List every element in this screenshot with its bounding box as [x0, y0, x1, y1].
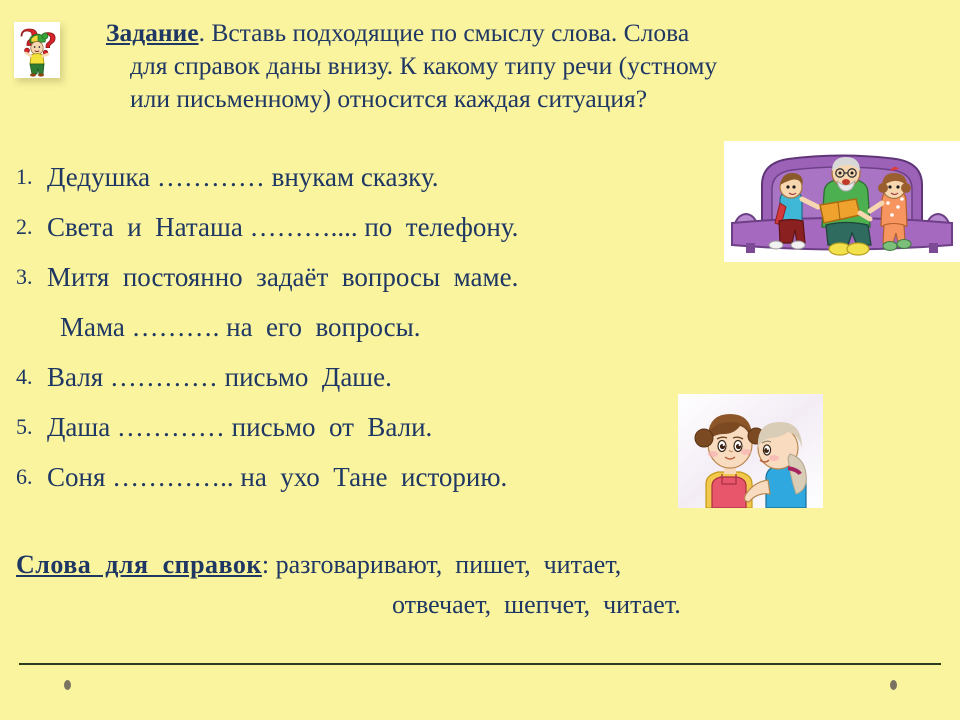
list-item-continuation: Мама ………. на его вопросы.	[0, 306, 960, 356]
footer-dot-left-icon	[64, 680, 71, 690]
list-item: 3. Митя постоянно задаёт вопросы маме.	[0, 256, 960, 306]
list-item-text: Валя ………… письмо Даше.	[47, 356, 392, 398]
list-item-text: Дедушка ………… внукам сказку.	[47, 156, 438, 198]
reference-words-label: Слова для справок	[16, 550, 262, 579]
task-line-3: или письменному) относится каждая ситуац…	[106, 82, 946, 115]
list-item-text: Соня ………….. на ухо Тане историю.	[47, 456, 507, 498]
list-item-text: Мама ………. на его вопросы.	[60, 306, 421, 348]
task-line-1: Вставь подходящие по смыслу слова. Слова	[205, 18, 689, 47]
grandfather-reading-to-grandchildren-image	[724, 141, 960, 262]
footer-dot-right-icon	[890, 680, 897, 690]
list-item-text: Даша ………… письмо от Вали.	[47, 406, 432, 448]
list-item-number: 5.	[16, 412, 33, 442]
slide-canvas: Задание. Вставь подходящие по смыслу сло…	[0, 0, 960, 720]
jester-boy-with-question-marks-icon	[14, 22, 60, 78]
list-item-number: 6.	[16, 462, 33, 492]
list-item-number: 2.	[16, 212, 33, 242]
reference-words-block: Слова для справок: разговаривают, пишет,…	[16, 545, 946, 625]
task-instruction-text: Задание. Вставь подходящие по смыслу сло…	[106, 16, 946, 115]
reference-words-line-1: разговаривают, пишет, читает,	[269, 550, 621, 579]
list-item-text: Митя постоянно задаёт вопросы маме.	[47, 256, 518, 298]
list-item-number: 1.	[16, 162, 33, 192]
girls-whispering-image	[678, 394, 823, 508]
list-item-number: 4.	[16, 362, 33, 392]
list-item-text: Света и Наташа ……….... по телефону.	[47, 206, 518, 248]
reference-words-line-2: отвечает, шепчет, читает.	[16, 585, 946, 625]
task-label: Задание	[106, 18, 199, 47]
task-line-2: для справок даны внизу. К какому типу ре…	[106, 49, 946, 82]
list-item-number: 3.	[16, 262, 33, 292]
footer-divider	[19, 663, 941, 665]
